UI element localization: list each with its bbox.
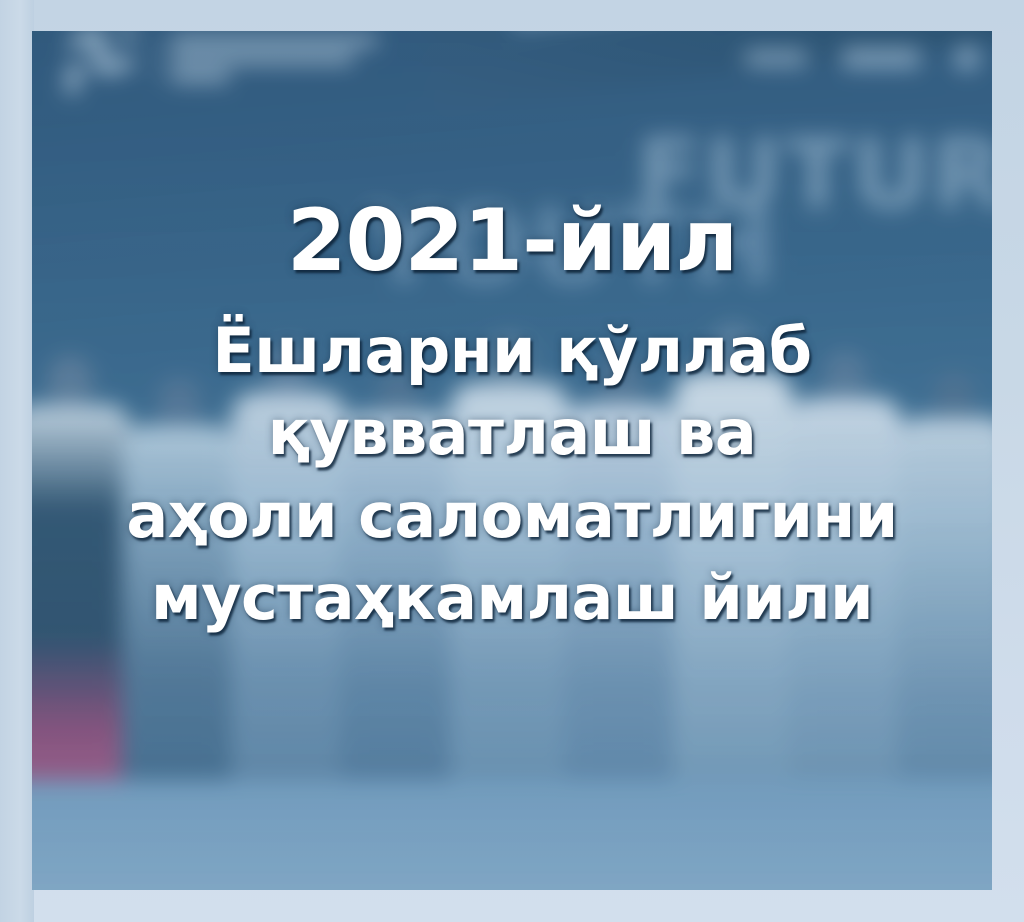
person-head [486, 333, 532, 389]
person-figure [564, 355, 678, 780]
person-body [564, 403, 678, 780]
person-head [266, 344, 310, 398]
person-body [897, 417, 992, 779]
person-body [32, 405, 132, 780]
person-body [673, 372, 793, 779]
person-head [933, 371, 975, 423]
sponsor-logo-2 [842, 48, 920, 68]
person-figure [788, 350, 902, 780]
person-body [122, 425, 236, 780]
person-head [823, 350, 867, 404]
person-figure [450, 333, 570, 780]
person-figure [122, 377, 236, 780]
summit-wordmark [155, 35, 377, 82]
person-figure [897, 371, 992, 779]
summit-mark-icon [67, 31, 141, 95]
person-figure [32, 355, 132, 780]
sponsor-logo-row [744, 45, 980, 71]
person-body [450, 383, 570, 780]
person-head [599, 355, 643, 409]
person-figure [340, 366, 454, 780]
person-figure [231, 344, 345, 780]
person-head [47, 355, 93, 411]
sponsor-logo-3 [954, 45, 980, 71]
international-youth-summit-logo [67, 31, 377, 95]
person-head [710, 322, 756, 378]
person-body [340, 412, 454, 780]
person-head [157, 377, 201, 431]
person-body [788, 398, 902, 780]
person-figure [673, 322, 793, 779]
poster-photo: FUTURE YOUTH [32, 31, 992, 890]
person-head [377, 366, 419, 418]
background-scene: FUTURE YOUTH [32, 31, 992, 890]
crowd-group [32, 235, 992, 780]
person-body [231, 392, 345, 780]
sponsor-logo-1 [744, 50, 808, 66]
poster-frame: FUTURE YOUTH [0, 0, 1024, 922]
